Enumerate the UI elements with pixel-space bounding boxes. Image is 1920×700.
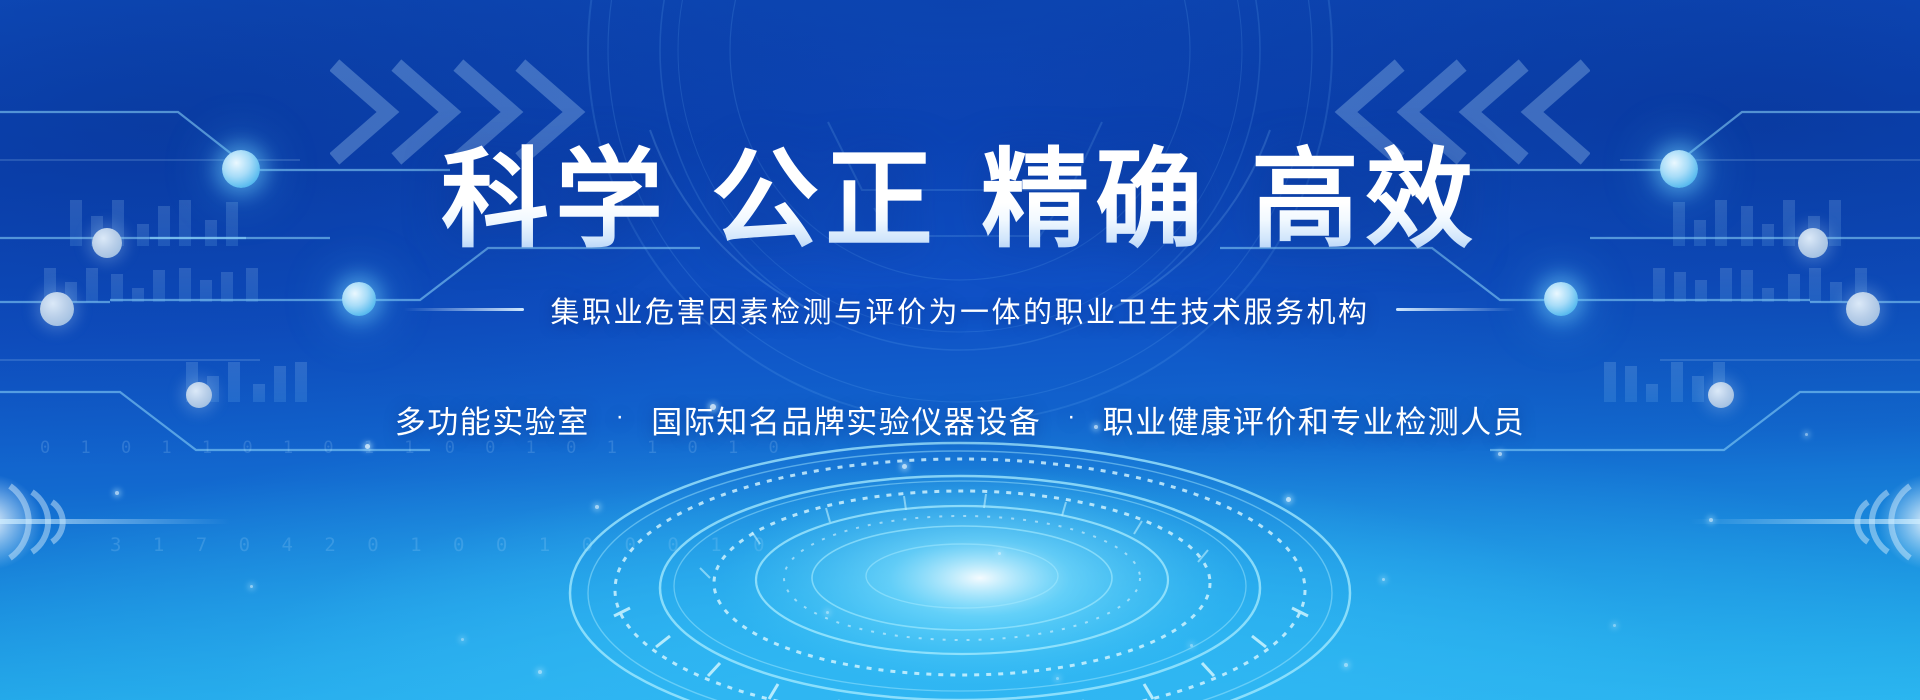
- subtitle-text: 集职业危害因素检测与评价为一体的职业卫生技术服务机构: [550, 289, 1369, 331]
- lens-flare-glow-right: [1680, 462, 1920, 582]
- circuit-node-right-3: [1846, 292, 1880, 326]
- subtitle-row: 集职业危害因素检测与评价为一体的职业卫生技术服务机构: [404, 289, 1515, 331]
- circuit-node-left-3: [40, 292, 74, 326]
- circuit-node-right-4: [1544, 282, 1578, 316]
- circuit-traces: [0, 0, 1920, 700]
- circuit-node-left-4: [342, 282, 376, 316]
- title-word-3: 精确: [981, 139, 1209, 260]
- bar-pattern-right-bottom: [1604, 362, 1734, 402]
- code-strip-upper: 0 1 0 1 1 0 1 0 1 1 0 0 1 0 1 1 0 1 0: [0, 438, 1920, 458]
- chevron-left-arrows-icon: [1290, 52, 1590, 172]
- tagline-item-3: 职业健康评价和专业检测人员: [1103, 397, 1526, 442]
- tagline-row: 多功能实验室 · 国际知名品牌实验仪器设备 · 职业健康评价和专业检测人员: [395, 397, 1526, 442]
- lens-flare-glow-left: [0, 462, 240, 582]
- subtitle-rule-left: [404, 308, 524, 311]
- tagline-item-1: 多功能实验室: [395, 397, 590, 442]
- radar-halo-rings: [510, 428, 1410, 700]
- circuit-node-right-1: [1660, 150, 1698, 188]
- chevron-right-arrows-icon: [330, 52, 630, 172]
- bar-pattern-right-mid: [1653, 268, 1876, 302]
- title-word-2: 公正: [711, 139, 939, 260]
- bar-pattern-left-bottom: [186, 362, 316, 402]
- page-title: 科学公正精确高效: [441, 142, 1479, 259]
- circuit-node-right-5: [1708, 382, 1734, 408]
- tech-banner: 0 1 0 1 1 0 1 0 1 1 0 0 1 0 1 1 0 1 0 3 …: [0, 0, 1920, 700]
- title-word-1: 科学: [441, 139, 669, 260]
- hud-arc-overlay: [510, 0, 1410, 430]
- circuit-node-left-5: [186, 382, 212, 408]
- circuit-node-left-2: [92, 228, 122, 258]
- banner-content: 科学公正精确高效 集职业危害因素检测与评价为一体的职业卫生技术服务机构 多功能实…: [0, 0, 1920, 700]
- particle-field: [0, 370, 1920, 700]
- vignette-overlay: [0, 0, 1920, 700]
- tagline-separator-1: ·: [616, 403, 626, 431]
- tagline-item-2: 国际知名品牌实验仪器设备: [651, 397, 1041, 442]
- bar-pattern-right-top: [1673, 200, 1850, 246]
- circuit-node-right-2: [1798, 228, 1828, 258]
- code-strip-lower: 3 1 7 0 4 2 0 1 0 0 1 0 0 0 1 0: [0, 534, 1920, 556]
- circuit-node-left-1: [222, 150, 260, 188]
- bar-pattern-left-mid: [44, 268, 267, 302]
- tagline-separator-2: ·: [1067, 403, 1077, 431]
- title-word-4: 高效: [1251, 139, 1479, 260]
- subtitle-rule-right: [1396, 308, 1516, 311]
- bar-pattern-left-top: [70, 200, 247, 246]
